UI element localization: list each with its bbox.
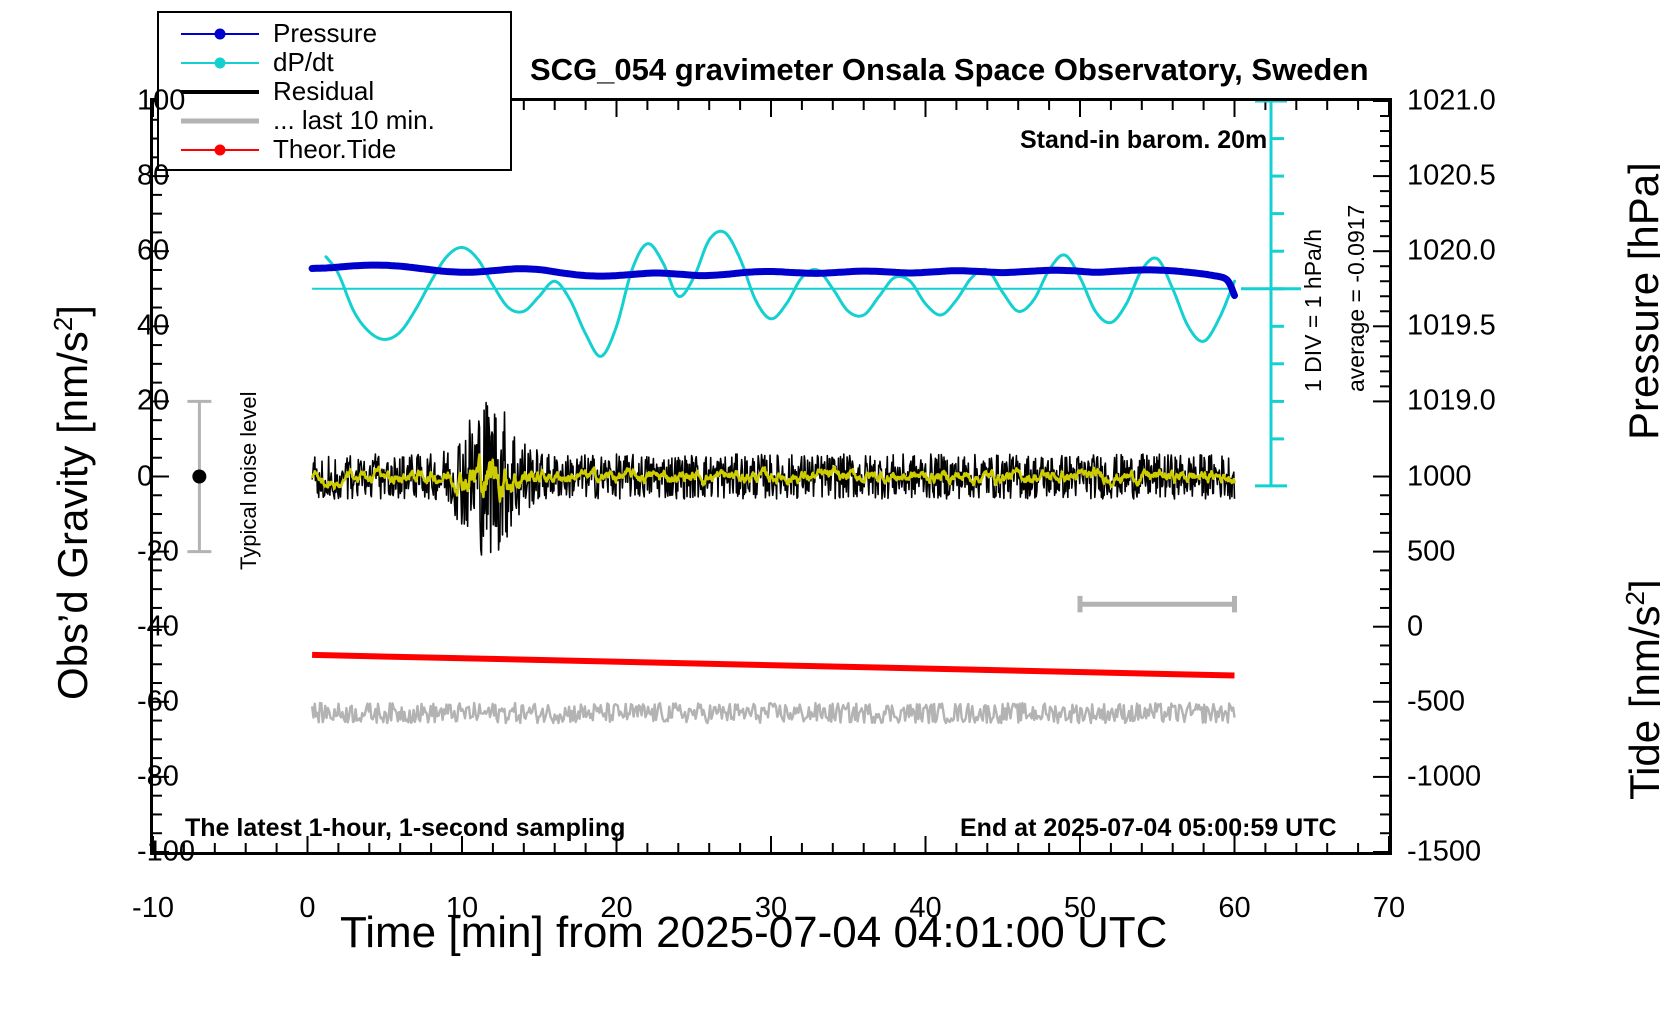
page-title: SCG_054 gravimeter Onsala Space Observat… (530, 52, 1369, 88)
tide-tick-label-3: 0 (1407, 610, 1423, 643)
legend-item-residual[interactable]: Residual (159, 77, 510, 106)
legend-line-icon (181, 118, 259, 123)
legend: PressuredP/dtResidual... last 10 min.The… (157, 11, 512, 171)
data-curves (153, 101, 1389, 852)
tide-tick-label-2: -500 (1407, 685, 1465, 718)
legend-key-icon (181, 111, 259, 131)
pressure-axis-title-text: Pressure [hPa] (1620, 162, 1660, 440)
x-tick-label-7: 60 (1218, 892, 1250, 925)
y-axis-title-left-text: Obs’d Gravity [nm/s2] (49, 305, 96, 700)
x-tick-label-0: -10 (132, 892, 174, 925)
x-tick-label-1: 0 (299, 892, 315, 925)
pressure-tick-label-2: 1020.0 (1407, 235, 1496, 268)
footer-left-label: The latest 1-hour, 1-second sampling (185, 814, 625, 843)
tide-tick-label-0: -1500 (1407, 836, 1481, 869)
legend-key-icon (181, 53, 259, 73)
last10min-curve (312, 703, 1234, 723)
legend-item-last-10-min[interactable]: ... last 10 min. (159, 106, 510, 135)
y-axis-title-tide: Tide [nm/s2] (1620, 579, 1660, 800)
typical-noise-level-label: Typical noise level (236, 391, 262, 570)
standin-barometer-label: Stand-in barom. 20m (1020, 126, 1267, 155)
pressure-tick-label-3: 1020.5 (1407, 160, 1496, 193)
x-tick-label-8: 70 (1373, 892, 1405, 925)
y-axis-title-left: Obs’d Gravity [nm/s2] (48, 305, 97, 700)
x-tick-label-5: 40 (909, 892, 941, 925)
pressure-curve (312, 265, 1234, 295)
div-scale-label: 1 DIV = 1 hPa/h (1300, 229, 1327, 392)
legend-item-pressure[interactable]: Pressure (159, 19, 510, 48)
gravimeter-monitor-plot: SCG_054 gravimeter Onsala Space Observat… (0, 0, 1660, 1020)
pressure-tick-label-1: 1019.5 (1407, 310, 1496, 343)
x-tick-label-3: 20 (600, 892, 632, 925)
x-tick-label-2: 10 (446, 892, 478, 925)
legend-item-label: Residual (273, 76, 374, 107)
y-axis-title-pressure: Pressure [hPa] (1620, 162, 1660, 440)
legend-key-icon (181, 82, 259, 102)
legend-item-label: Pressure (273, 18, 377, 49)
x-tick-label-6: 50 (1064, 892, 1096, 925)
tide-tick-label-5: 1000 (1407, 460, 1472, 493)
noise-level-center-dot (192, 470, 206, 484)
legend-item-dp-dt[interactable]: dP/dt (159, 48, 510, 77)
legend-item-label: Theor.Tide (273, 134, 396, 165)
legend-key-icon (181, 24, 259, 44)
plot-drawing-area (153, 101, 1389, 852)
legend-key-icon (181, 140, 259, 160)
legend-dot-icon (215, 144, 226, 155)
footer-right-label: End at 2025-07-04 05:00:59 UTC (960, 814, 1337, 843)
tide-tick-label-1: -1000 (1407, 760, 1481, 793)
legend-line-icon (181, 90, 259, 94)
average-dpdt-label: average = -0.0917 (1343, 205, 1370, 392)
tide-axis-title-text: Tide [nm/s2] (1621, 579, 1660, 800)
legend-item-label: ... last 10 min. (273, 105, 435, 136)
legend-item-theor-tide[interactable]: Theor.Tide (159, 135, 510, 164)
pressure-tick-label-0: 1019.0 (1407, 385, 1496, 418)
dpdt-curve (326, 231, 1235, 356)
legend-dot-icon (215, 57, 226, 68)
pressure-tick-label-4: 1021.0 (1407, 85, 1496, 118)
x-tick-label-4: 30 (755, 892, 787, 925)
tide-tick-label-4: 500 (1407, 535, 1455, 568)
legend-item-label: dP/dt (273, 47, 334, 78)
legend-dot-icon (215, 28, 226, 39)
theor-tide-curve (312, 655, 1234, 676)
